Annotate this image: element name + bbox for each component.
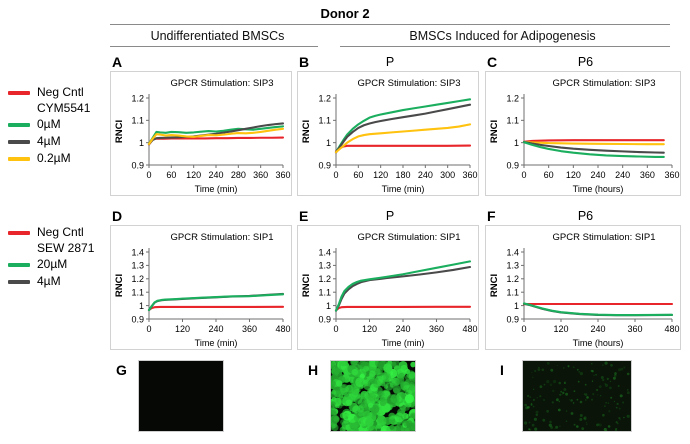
micrograph-adipogenesis-p-image — [331, 361, 415, 431]
x-tick-label: 360 — [640, 170, 655, 180]
x-tick-label: 120 — [553, 324, 568, 334]
y-tick-label: 1.1 — [131, 288, 144, 298]
legend-label-neg-control: Neg Cntl — [37, 86, 84, 99]
y-tick-label: 1.1 — [506, 288, 519, 298]
y-tick-label: 1.1 — [318, 288, 331, 298]
panel-subheader-f: P6 — [488, 209, 683, 223]
group-header-undifferentiated: Undifferentiated BMSCs — [110, 29, 325, 43]
x-axis-label: Time (hours) — [573, 338, 624, 348]
legend2-row-dose-0: 20µM — [8, 256, 112, 273]
chart-svg-gpcr-stimulation-sip3: GPCR Stimulation: SIP30.911.11.206012018… — [298, 72, 478, 195]
legend-label-dose-1: 4µM — [37, 135, 61, 148]
chart-svg-gpcr-stimulation-sip3: GPCR Stimulation: SIP30.911.11.206012024… — [111, 72, 291, 195]
legend-swatch-dose-2 — [8, 157, 30, 161]
panel-label-a: A — [112, 54, 122, 70]
y-tick-label: 0.9 — [318, 314, 331, 324]
chart-panel-d: GPCR Stimulation: SIP10.911.11.21.31.401… — [110, 225, 292, 350]
x-tick-label: 60 — [353, 170, 363, 180]
x-axis-label: Time (min) — [195, 338, 238, 348]
y-tick-label: 0.9 — [131, 314, 144, 324]
y-tick-label: 1.2 — [506, 274, 519, 284]
chart-panel-c: GPCR Stimulation: SIP30.911.11.206012024… — [485, 71, 681, 196]
panel-subheader-e: P — [300, 209, 480, 223]
y-tick-label: 1 — [514, 138, 519, 148]
legend2-compound-name: SEW 2871 — [37, 241, 112, 256]
legend2-swatch-dose-0 — [8, 263, 30, 267]
x-axis-label: Time (min) — [382, 338, 425, 348]
y-tick-label: 1.3 — [506, 261, 519, 271]
legend-swatch-dose-1 — [8, 140, 30, 144]
x-tick-label: 480 — [664, 324, 679, 334]
group-rule-adipogenesis — [340, 46, 670, 47]
y-tick-label: 1.2 — [318, 93, 331, 103]
x-tick-label: 240 — [615, 170, 630, 180]
series-line-4-m — [149, 123, 283, 144]
chart-title: GPCR Stimulation: SIP1 — [358, 232, 461, 243]
series-line-neg-cntl — [524, 140, 664, 142]
x-axis-label: Time (min) — [382, 184, 425, 194]
chart-panel-a: GPCR Stimulation: SIP30.911.11.206012024… — [110, 71, 292, 196]
x-tick-label: 60 — [166, 170, 176, 180]
panel-label-i: I — [500, 362, 504, 378]
y-tick-label: 1 — [326, 301, 331, 311]
micrograph-adipogenesis-p — [330, 360, 416, 432]
chart-title: GPCR Stimulation: SIP3 — [171, 78, 274, 89]
y-tick-label: 1.4 — [318, 247, 331, 257]
x-tick-label: 0 — [146, 170, 151, 180]
x-tick-label: 180 — [395, 170, 410, 180]
chart-title: GPCR Stimulation: SIP1 — [553, 232, 656, 243]
series-line-neg-cntl — [336, 146, 470, 152]
y-tick-label: 1.1 — [506, 116, 519, 126]
chart-svg-gpcr-stimulation-sip1: GPCR Stimulation: SIP10.911.11.21.31.401… — [486, 226, 680, 349]
y-tick-label: 1.4 — [131, 247, 144, 257]
chart-title: GPCR Stimulation: SIP3 — [358, 78, 461, 89]
legend-label-dose-2: 0.2µM — [37, 152, 71, 165]
y-axis-label: RNCI — [301, 274, 312, 297]
x-tick-label: 360 — [462, 170, 477, 180]
y-tick-label: 1.2 — [131, 93, 144, 103]
series-line-0-m — [336, 99, 470, 152]
y-tick-label: 0.9 — [318, 160, 331, 170]
x-tick-label: 360 — [275, 170, 290, 180]
panel-subheader-c: P6 — [488, 55, 683, 69]
group-rule-undifferentiated — [110, 46, 318, 47]
x-tick-label: 120 — [566, 170, 581, 180]
chart-svg-gpcr-stimulation-sip1: GPCR Stimulation: SIP10.911.11.21.31.401… — [298, 226, 478, 349]
x-tick-label: 360 — [429, 324, 444, 334]
series-line-neg-cntl — [149, 307, 283, 310]
y-tick-label: 1 — [139, 138, 144, 148]
y-tick-label: 1.3 — [318, 261, 331, 271]
chart-panel-e: GPCR Stimulation: SIP10.911.11.21.31.401… — [297, 225, 479, 350]
y-tick-label: 1 — [326, 138, 331, 148]
legend2-row-neg-control: Neg Cntl — [8, 224, 112, 241]
figure-title: Donor 2 — [0, 6, 690, 21]
panel-subheader-b: P — [300, 55, 480, 69]
y-tick-label: 1.2 — [318, 274, 331, 284]
x-tick-label: 0 — [521, 170, 526, 180]
series-line-0-2-m — [524, 142, 664, 144]
legend-row-neg-control: Neg Cntl — [8, 84, 112, 101]
x-tick-label: 480 — [275, 324, 290, 334]
legend-label-dose-0: 0µM — [37, 118, 61, 131]
y-axis-label: RNCI — [301, 120, 312, 143]
group-header-adipogenesis: BMSCs Induced for Adipogenesis — [330, 29, 675, 43]
series-line-neg-cntl — [336, 307, 470, 310]
series-line-20-m — [524, 303, 672, 315]
x-tick-label: 0 — [333, 324, 338, 334]
panel-label-d: D — [112, 208, 122, 224]
legend-compound-name: CYM5541 — [37, 101, 112, 116]
legend2-swatch-neg-control — [8, 231, 30, 235]
x-tick-label: 280 — [231, 170, 246, 180]
y-axis-label: RNCI — [114, 120, 125, 143]
x-tick-label: 120 — [186, 170, 201, 180]
legend2-label-dose-0: 20µM — [37, 258, 67, 271]
legend2-row-dose-1: 4µM — [8, 273, 112, 290]
x-axis-label: Time (min) — [195, 184, 238, 194]
cym5541-legend: Neg Cntl CYM5541 0µM 4µM 0.2µM — [8, 84, 112, 167]
y-tick-label: 0.9 — [506, 314, 519, 324]
legend2-label-dose-1: 4µM — [37, 275, 61, 288]
y-tick-label: 1.1 — [131, 116, 144, 126]
legend-row-dose-0: 0µM — [8, 116, 112, 133]
x-tick-label: 240 — [590, 170, 605, 180]
y-axis-label: RNCI — [489, 274, 500, 297]
x-tick-label: 360 — [253, 170, 268, 180]
x-tick-label: 240 — [418, 170, 433, 180]
x-tick-label: 240 — [208, 170, 223, 180]
x-tick-label: 0 — [521, 324, 526, 334]
y-tick-label: 0.9 — [506, 160, 519, 170]
micrograph-adipogenesis-p6-image — [523, 361, 631, 431]
y-tick-label: 1 — [514, 301, 519, 311]
y-tick-label: 1 — [139, 301, 144, 311]
x-tick-label: 480 — [462, 324, 477, 334]
x-tick-label: 120 — [175, 324, 190, 334]
chart-svg-gpcr-stimulation-sip1: GPCR Stimulation: SIP10.911.11.21.31.401… — [111, 226, 291, 349]
x-tick-label: 360 — [627, 324, 642, 334]
micrograph-undifferentiated-image — [139, 361, 223, 431]
legend2-swatch-dose-1 — [8, 280, 30, 284]
legend-row-dose-1: 4µM — [8, 133, 112, 150]
micrograph-undifferentiated — [138, 360, 224, 432]
x-tick-label: 360 — [664, 170, 679, 180]
x-tick-label: 0 — [146, 324, 151, 334]
x-tick-label: 240 — [395, 324, 410, 334]
x-axis-label: Time (hours) — [573, 184, 624, 194]
y-tick-label: 1.1 — [318, 116, 331, 126]
legend-swatch-dose-0 — [8, 123, 30, 127]
x-tick-label: 0 — [333, 170, 338, 180]
donor-rule — [110, 24, 670, 25]
micrograph-adipogenesis-p6 — [522, 360, 632, 432]
chart-title: GPCR Stimulation: SIP1 — [171, 232, 274, 243]
chart-panel-b: GPCR Stimulation: SIP30.911.11.206012018… — [297, 71, 479, 196]
chart-panel-f: GPCR Stimulation: SIP10.911.11.21.31.401… — [485, 225, 681, 350]
legend2-label-neg-control: Neg Cntl — [37, 226, 84, 239]
y-axis-label: RNCI — [489, 120, 500, 143]
x-tick-label: 120 — [373, 170, 388, 180]
y-tick-label: 0.9 — [131, 160, 144, 170]
chart-title: GPCR Stimulation: SIP3 — [553, 78, 656, 89]
panel-label-h: H — [308, 362, 318, 378]
y-tick-label: 1.2 — [506, 93, 519, 103]
x-tick-label: 240 — [208, 324, 223, 334]
y-tick-label: 1.2 — [131, 274, 144, 284]
x-tick-label: 120 — [362, 324, 377, 334]
figure-root: Donor 2 Undifferentiated BMSCs BMSCs Ind… — [0, 0, 690, 444]
chart-svg-gpcr-stimulation-sip3: GPCR Stimulation: SIP30.911.11.206012024… — [486, 72, 680, 195]
legend-row-dose-2: 0.2µM — [8, 150, 112, 167]
x-tick-label: 240 — [590, 324, 605, 334]
legend-swatch-neg-control — [8, 91, 30, 95]
x-tick-label: 360 — [242, 324, 257, 334]
panel-label-g: G — [116, 362, 127, 378]
x-tick-label: 300 — [440, 170, 455, 180]
sew2871-legend: Neg Cntl SEW 2871 20µM 4µM — [8, 224, 112, 290]
y-tick-label: 1.4 — [506, 247, 519, 257]
x-tick-label: 60 — [544, 170, 554, 180]
y-axis-label: RNCI — [114, 274, 125, 297]
series-line-20-m — [336, 261, 470, 310]
y-tick-label: 1.3 — [131, 261, 144, 271]
